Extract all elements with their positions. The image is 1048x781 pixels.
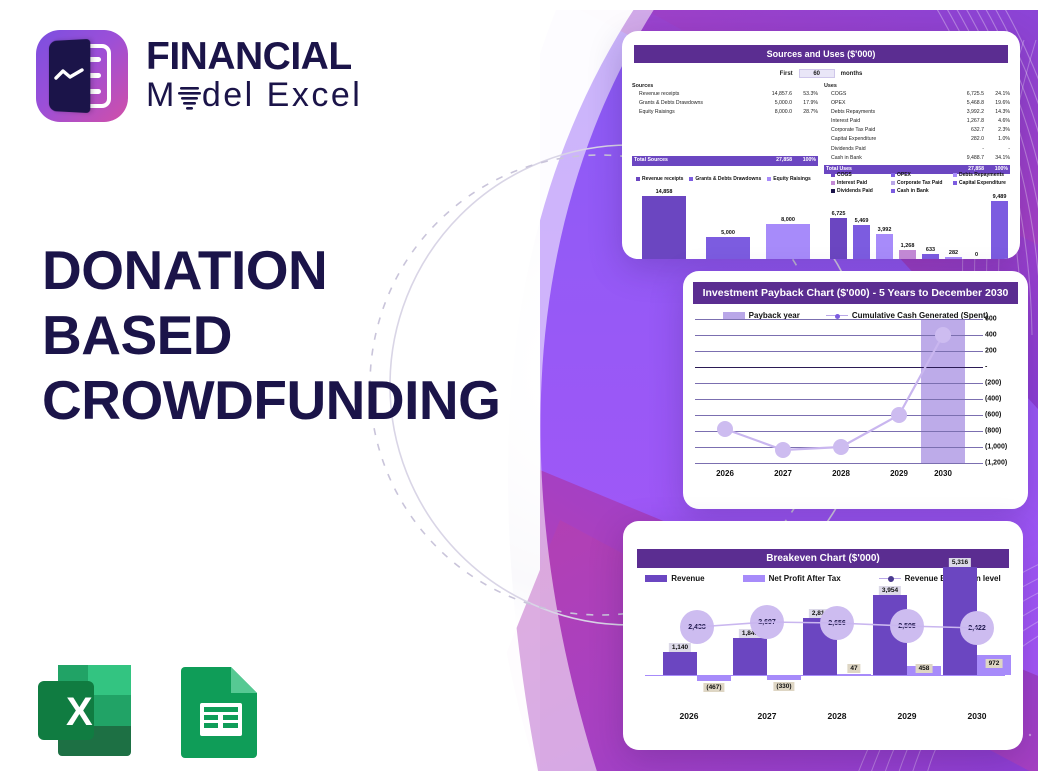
bar-value-label: 5,000 xyxy=(721,230,735,236)
legend-label: Capital Expenditure xyxy=(959,180,1006,186)
sources-bar-chart: 14,858 5,000 8,000 xyxy=(636,191,816,259)
legend-label: Equity Raisings xyxy=(773,176,811,182)
row-pct: 53.3% xyxy=(792,90,818,99)
y-tick-label: (800) xyxy=(985,428,1017,435)
bar-value-label: 9,489 xyxy=(993,194,1007,200)
supported-apps: X xyxy=(36,663,270,758)
uses-header: Uses xyxy=(824,83,1010,89)
total-value: 27,858 xyxy=(758,156,792,166)
bar-value-label: 282 xyxy=(949,250,958,256)
bar-interest-paid: 1,268 xyxy=(899,250,916,259)
bar-value-label: 6,725 xyxy=(832,211,846,217)
row-value: 5,468.8 xyxy=(950,99,984,108)
bar-value-label-revenue-2030: 5,316 xyxy=(949,558,971,567)
y-tick-label: - xyxy=(985,364,1017,371)
row-pct: 14.3% xyxy=(984,108,1010,117)
x-tick-label: 2029 xyxy=(898,711,917,721)
bar-value-label: 633 xyxy=(926,247,935,253)
sources-header: Sources xyxy=(632,83,818,89)
period-prefix: First xyxy=(780,71,793,77)
legend-swatch-icon xyxy=(891,181,895,185)
legend-item: Grants & Debts Drawdowns xyxy=(689,176,761,182)
legend-swatch-icon xyxy=(953,181,957,185)
legend-item: COGS xyxy=(831,172,891,178)
table-row: Capital Expenditure 282.0 1.0% xyxy=(824,135,1010,144)
microsoft-excel-icon: X xyxy=(36,663,133,758)
bar-revenue-receipts: 14,858 xyxy=(642,196,686,259)
legend-swatch-icon xyxy=(689,177,693,181)
row-value: 6,725.5 xyxy=(950,90,984,99)
row-pct: 24.1% xyxy=(984,90,1010,99)
legend-line-icon xyxy=(826,312,848,319)
data-point-2030 xyxy=(935,327,951,343)
row-pct: 4.6% xyxy=(984,117,1010,126)
table-row: Corporate Tax Paid 632.7 2.3% xyxy=(824,126,1010,135)
row-label: Grants & Debts Drawdowns xyxy=(632,99,758,108)
row-label: Debts Repayments xyxy=(824,108,950,117)
row-value: 9,488.7 xyxy=(950,154,984,163)
period-suffix: months xyxy=(841,71,863,77)
bar-value-label: 0 xyxy=(975,252,978,258)
row-label: Equity Raisings xyxy=(632,108,758,117)
legend-item: Equity Raisings xyxy=(767,176,811,182)
bar-cogs: 6,725 xyxy=(830,218,847,259)
legend-label: Revenue receipts xyxy=(642,176,683,182)
svg-text:X: X xyxy=(66,690,93,734)
table-row: COGS 6,725.5 24.1% xyxy=(824,90,1010,99)
breakeven-level-line xyxy=(645,579,1005,699)
x-tick-label: 2029 xyxy=(890,469,908,478)
y-tick-label: (1,200) xyxy=(985,460,1017,467)
table-row: Dividends Paid - - xyxy=(824,145,1010,154)
row-value: 5,000.0 xyxy=(758,99,792,108)
y-tick-label: (1,000) xyxy=(985,444,1017,451)
row-label: Interest Paid xyxy=(824,117,950,126)
bar-debts-repayments: 3,992 xyxy=(876,234,893,259)
x-tick-label: 2030 xyxy=(968,711,987,721)
row-pct: 17.9% xyxy=(792,99,818,108)
data-point-2029 xyxy=(891,407,907,423)
legend-swatch-icon xyxy=(891,173,895,177)
bar-value-label: 8,000 xyxy=(781,217,795,223)
page-title: DONATION BASED CROWDFUNDING xyxy=(42,238,512,433)
row-label: COGS xyxy=(824,90,950,99)
sources-and-uses-panel: Sources and Uses ($'000) First 60 months… xyxy=(622,31,1020,259)
y-tick-label: (200) xyxy=(985,380,1017,387)
bar-value-label: 5,469 xyxy=(855,218,869,224)
x-tick-label: 2028 xyxy=(832,469,850,478)
total-pct: 100% xyxy=(792,156,818,166)
y-tick-label: 400 xyxy=(985,332,1017,339)
months-input[interactable]: 60 xyxy=(799,69,835,78)
bar-value-label: 3,992 xyxy=(878,227,892,233)
brand-logo: FINANCIAL M del Excel xyxy=(36,30,362,122)
row-label: Revenue receipts xyxy=(632,90,758,99)
x-tick-label: 2026 xyxy=(680,711,699,721)
bar-corporate-tax-paid: 633 xyxy=(922,254,939,259)
legend-label: COGS xyxy=(837,172,852,178)
payback-plot-area: 600 400 200 - (200) (400) (600) (800) (1… xyxy=(695,319,1017,463)
row-value: 282.0 xyxy=(950,135,984,144)
total-label: Total Sources xyxy=(632,156,758,166)
sources-column: Sources Revenue receipts 14,857.6 53.3% … xyxy=(632,83,818,174)
table-row: Cash in Bank 9,488.7 34.1% xyxy=(824,154,1010,163)
sources-total-row: Total Sources 27,858 100% xyxy=(632,156,818,166)
table-row: Interest Paid 1,267.8 4.6% xyxy=(824,117,1010,126)
y-tick-label: 200 xyxy=(985,348,1017,355)
row-label: Dividends Paid xyxy=(824,145,950,154)
sources-uses-table: Sources Revenue receipts 14,857.6 53.3% … xyxy=(622,78,1020,174)
bar-equity-raisings: 8,000 xyxy=(766,224,810,259)
legend-label: Debts Repayments xyxy=(959,172,1004,178)
legend-swatch-icon xyxy=(636,177,640,181)
zigzag-icon xyxy=(54,68,84,82)
data-point-2026 xyxy=(717,421,733,437)
gridline xyxy=(695,463,983,464)
legend-item: Revenue receipts xyxy=(636,176,683,182)
row-value: 3,992.2 xyxy=(950,108,984,117)
uses-bar-chart: 6,725 5,469 3,992 1,268 633 282 0 9,489 xyxy=(828,191,1014,259)
payback-title: Investment Payback Chart ($'000) - 5 Yea… xyxy=(693,282,1018,304)
investment-payback-panel: Investment Payback Chart ($'000) - 5 Yea… xyxy=(683,271,1028,509)
y-tick-label: (600) xyxy=(985,412,1017,419)
period-selector: First 60 months xyxy=(622,69,1020,78)
row-value: - xyxy=(950,145,984,154)
legend-item: Interest Paid xyxy=(831,180,891,186)
legend-item: Corporate Tax Paid xyxy=(891,180,953,186)
row-value: 632.7 xyxy=(950,126,984,135)
breakeven-plot-area: 1,140 (467) 2,438 1,848 (330) 2,697 2,81… xyxy=(645,579,1005,699)
bar-dividends-paid: 0 xyxy=(968,259,985,260)
row-pct: - xyxy=(984,145,1010,154)
row-pct: 34.1% xyxy=(984,154,1010,163)
legend-label: Interest Paid xyxy=(837,180,867,186)
row-pct: 28.7% xyxy=(792,108,818,117)
table-row: Grants & Debts Drawdowns 5,000.0 17.9% xyxy=(632,99,818,108)
row-label: Capital Expenditure xyxy=(824,135,950,144)
legend-item: OPEX xyxy=(891,172,953,178)
brand-name-secondary: M del Excel xyxy=(146,77,362,114)
bar-value-label: 1,268 xyxy=(901,243,915,249)
row-label: OPEX xyxy=(824,99,950,108)
financial-model-logo-icon xyxy=(36,30,128,122)
bar-cash-in-bank: 9,489 xyxy=(991,201,1008,259)
row-pct: 19.6% xyxy=(984,99,1010,108)
spacer xyxy=(632,117,818,154)
table-row: Debts Repayments 3,992.2 14.3% xyxy=(824,108,1010,117)
brand-m: M xyxy=(146,77,177,114)
table-row: Revenue receipts 14,857.6 53.3% xyxy=(632,90,818,99)
legend-swatch-icon xyxy=(831,181,835,185)
legend-item: Debts Repayments xyxy=(953,172,1013,178)
row-pct: 2.3% xyxy=(984,126,1010,135)
legend-item: Capital Expenditure xyxy=(953,180,1013,186)
data-point-2028 xyxy=(833,439,849,455)
bar-opex: 5,469 xyxy=(853,225,870,259)
payback-x-axis: 2026 2027 2028 2029 2030 xyxy=(695,469,1017,483)
y-tick-label: (400) xyxy=(985,396,1017,403)
row-value: 14,857.6 xyxy=(758,90,792,99)
legend-swatch-icon xyxy=(767,177,771,181)
row-label: Corporate Tax Paid xyxy=(824,126,950,135)
bar-grants-debts: 5,000 xyxy=(706,237,750,259)
brand-o-bars-icon xyxy=(177,79,202,113)
x-tick-label: 2027 xyxy=(758,711,777,721)
data-point-2027 xyxy=(775,442,791,458)
x-tick-label: 2028 xyxy=(828,711,847,721)
legend-swatch-icon xyxy=(953,173,957,177)
brand-del-excel: del Excel xyxy=(202,77,362,114)
google-sheets-icon xyxy=(173,663,270,758)
table-row: Equity Raisings 8,000.0 28.7% xyxy=(632,108,818,117)
legend-label: Corporate Tax Paid xyxy=(897,180,942,186)
brand-name-primary: FINANCIAL xyxy=(146,37,362,77)
sources-uses-title: Sources and Uses ($'000) xyxy=(634,45,1008,63)
breakeven-panel: Breakeven Chart ($'000) Revenue Net Prof… xyxy=(623,521,1023,750)
legend-swatch-icon xyxy=(723,312,745,319)
bar-value-label: 14,858 xyxy=(656,189,673,195)
legend-swatch-icon xyxy=(831,173,835,177)
y-tick-label: 600 xyxy=(985,316,1017,323)
row-value: 8,000.0 xyxy=(758,108,792,117)
legend-label: Grants & Debts Drawdowns xyxy=(695,176,761,182)
sources-chart-legend: Revenue receipts Grants & Debts Drawdown… xyxy=(636,176,811,182)
row-label: Cash in Bank xyxy=(824,154,950,163)
row-value: 1,267.8 xyxy=(950,117,984,126)
x-tick-label: 2027 xyxy=(774,469,792,478)
breakeven-x-axis: 2026 2027 2028 2029 2030 xyxy=(645,711,1005,725)
uses-column: Uses COGS 6,725.5 24.1% OPEX 5,468.8 19.… xyxy=(824,83,1010,174)
x-tick-label: 2030 xyxy=(934,469,952,478)
table-row: OPEX 5,468.8 19.6% xyxy=(824,99,1010,108)
row-pct: 1.0% xyxy=(984,135,1010,144)
x-tick-label: 2026 xyxy=(716,469,734,478)
legend-label: OPEX xyxy=(897,172,911,178)
bar-capital-expenditure: 282 xyxy=(945,257,962,260)
